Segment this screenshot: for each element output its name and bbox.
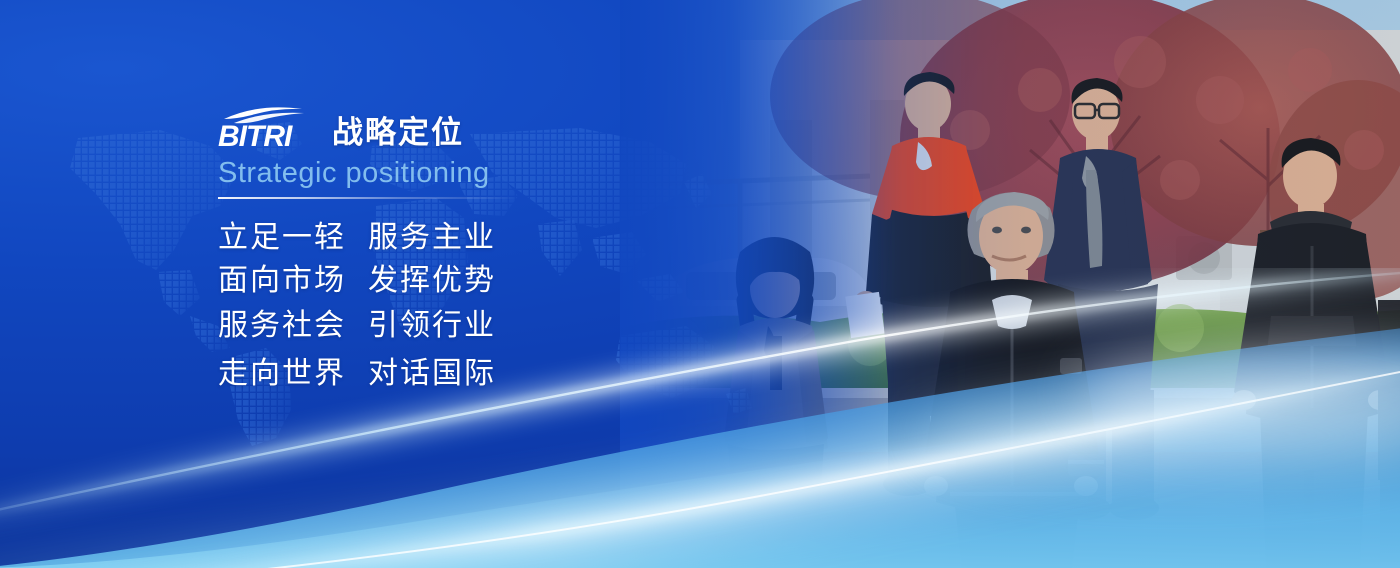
subtitle-english: Strategic positioning	[218, 156, 638, 190]
title-divider	[218, 197, 518, 199]
bitri-logo: BITRI	[218, 104, 318, 150]
slogan-line-1: 立足一轻服务主业	[218, 216, 638, 259]
slogan-2-right: 发挥优势	[368, 259, 496, 302]
slogan-3-right: 引领行业	[368, 302, 496, 350]
slogan-line-4: 走向世界对话国际	[218, 350, 638, 398]
slogan-2-left: 面向市场	[218, 259, 346, 302]
slogan-1-left: 立足一轻	[218, 216, 346, 259]
bitri-wordmark-text: BITRI	[218, 120, 293, 150]
slogan-4-right: 对话国际	[368, 350, 496, 398]
banner-content: BITRI 战略定位 Strategic positioning 立足一轻服务主…	[218, 104, 638, 398]
slogan-3-left: 服务社会	[218, 302, 346, 350]
slogan-4-left: 走向世界	[218, 350, 346, 398]
strategic-positioning-banner: BITRI 战略定位 Strategic positioning 立足一轻服务主…	[0, 0, 1400, 568]
campus-walk-photo	[620, 0, 1400, 568]
brand-lockup: BITRI 战略定位	[218, 104, 638, 150]
slogan-line-2: 面向市场发挥优势	[218, 259, 638, 302]
page-title: 战略定位	[332, 116, 464, 150]
slogan-1-right: 服务主业	[368, 216, 496, 259]
slogan-list: 立足一轻服务主业 面向市场发挥优势 服务社会引领行业 走向世界对话国际	[218, 216, 638, 398]
slogan-line-3: 服务社会引领行业	[218, 302, 638, 350]
